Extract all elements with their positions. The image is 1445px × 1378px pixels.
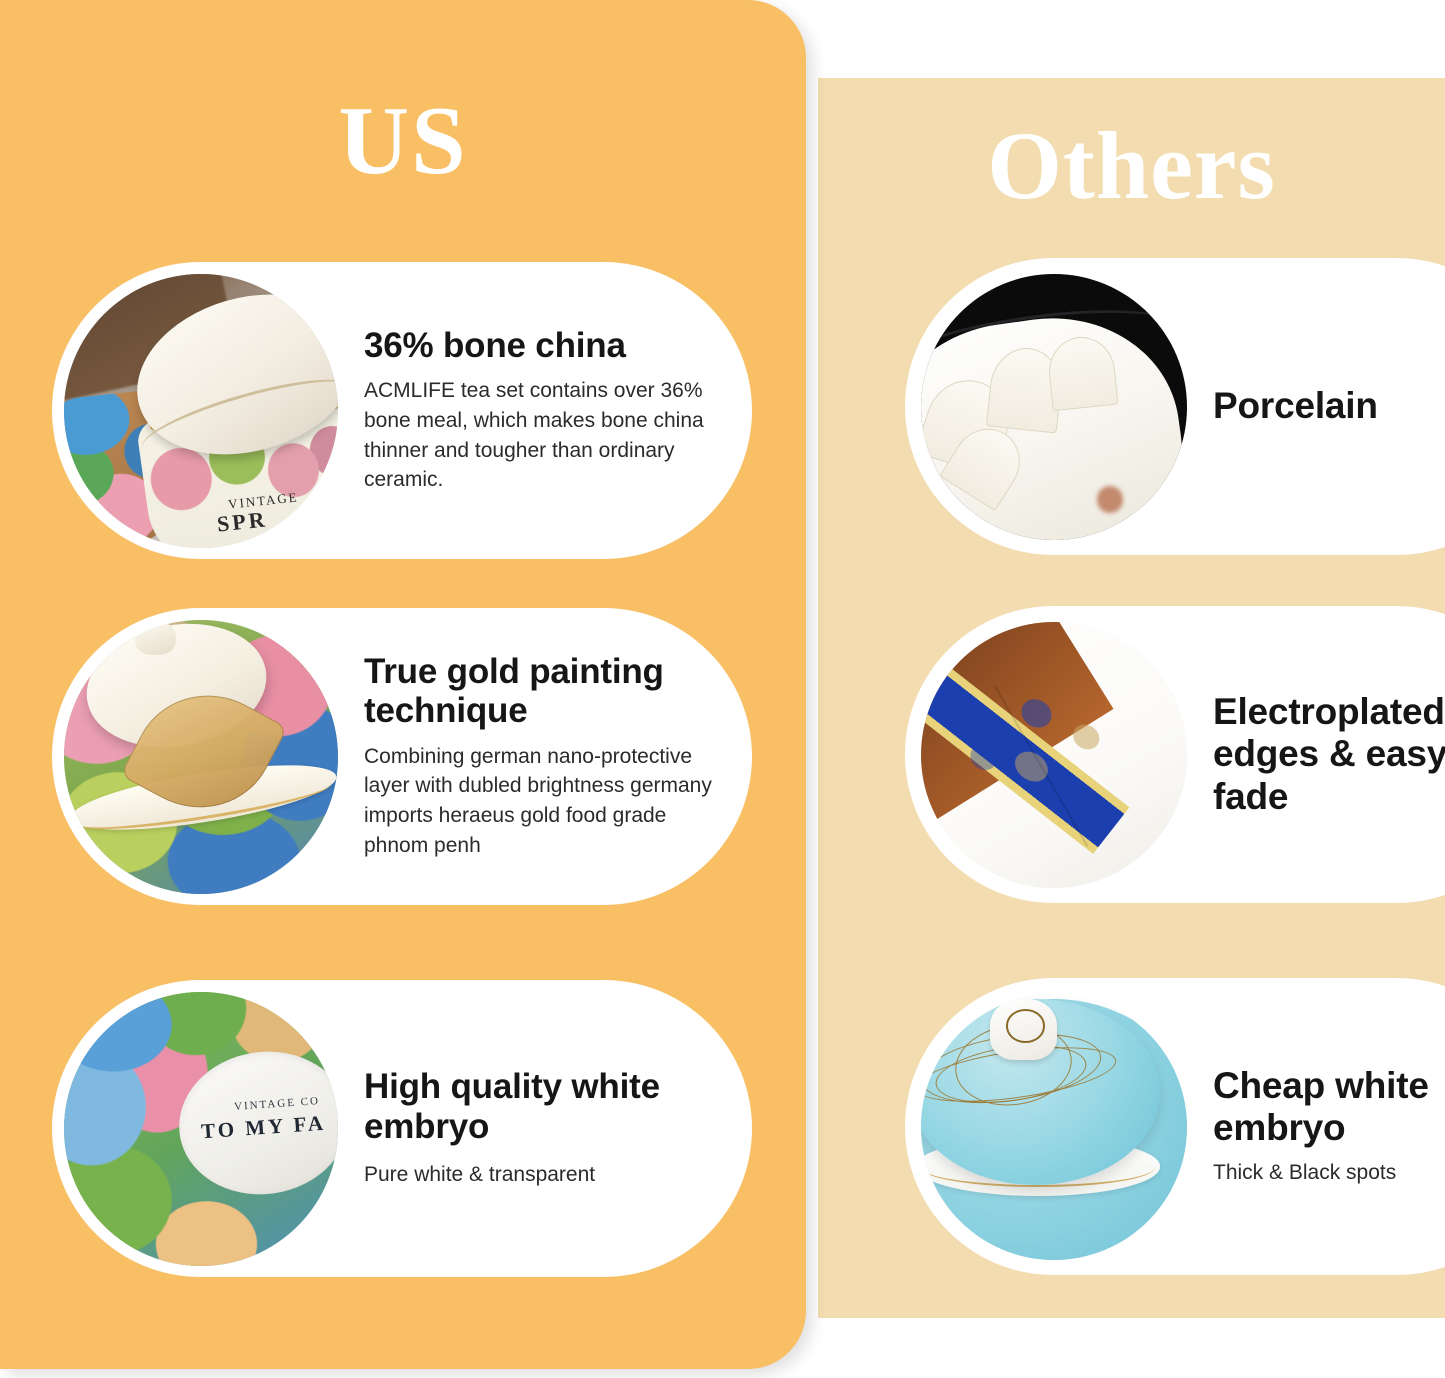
others-feature-text-3: Cheap white embryo Thick & Black spots [1187,1065,1445,1188]
others-heading: Others [818,118,1445,214]
others-feature-card-2: Electroplated edges & easy to fade [905,606,1445,903]
us-feature-title-1: 36% bone china [364,326,734,365]
us-feature-body-1: ACMLIFE tea set contains over 36% bone m… [364,376,734,495]
us-feature-title-3: High quality white embryo [364,1067,734,1145]
us-feature-card-3: VINTAGE CO TO MY FA High quality white e… [52,980,752,1277]
us-feature-body-3: Pure white & transparent [364,1160,734,1190]
others-feature-title-1: Porcelain [1213,385,1445,427]
us-feature-text-3: High quality white embryo Pure white & t… [338,1067,752,1189]
turquoise-lid-photo [921,994,1187,1260]
others-feature-title-3: Cheap white embryo [1213,1065,1445,1149]
chip-spot-shape [1097,486,1124,513]
us-feature-title-2: True gold painting technique [364,652,734,730]
us-feature-text-2: True gold painting technique Combining g… [338,652,752,861]
gold-painted-sugar-bowl-photo [64,620,338,894]
photo-caption-large: SPR [216,507,269,538]
porcelain-cup-black-background-photo [921,274,1187,540]
others-feature-text-1: Porcelain [1187,385,1445,427]
others-feature-card-1: Porcelain [905,258,1445,555]
us-feature-body-2: Combining german nano-protective layer w… [364,742,734,861]
others-feature-text-2: Electroplated edges & easy to fade [1187,691,1445,818]
us-feature-text-1: 36% bone china ACMLIFE tea set contains … [338,326,752,495]
others-feature-body-3: Thick & Black spots [1213,1158,1445,1188]
lid-knob-shape [135,620,176,656]
us-heading: US [0,92,806,190]
others-feature-title-2: Electroplated edges & easy to fade [1213,691,1445,818]
us-feature-card-1: VINTAGE SPR 36% bone china ACMLIFE tea s… [52,262,752,559]
white-embryo-plate-photo: VINTAGE CO TO MY FA [64,992,338,1266]
us-feature-card-2: True gold painting technique Combining g… [52,608,752,905]
knob-gold-mark-shape [1006,1009,1045,1042]
electroplated-blue-gold-edge-photo [921,622,1187,888]
bone-china-cup-photo: VINTAGE SPR [64,274,338,548]
others-feature-card-3: Cheap white embryo Thick & Black spots [905,978,1445,1275]
